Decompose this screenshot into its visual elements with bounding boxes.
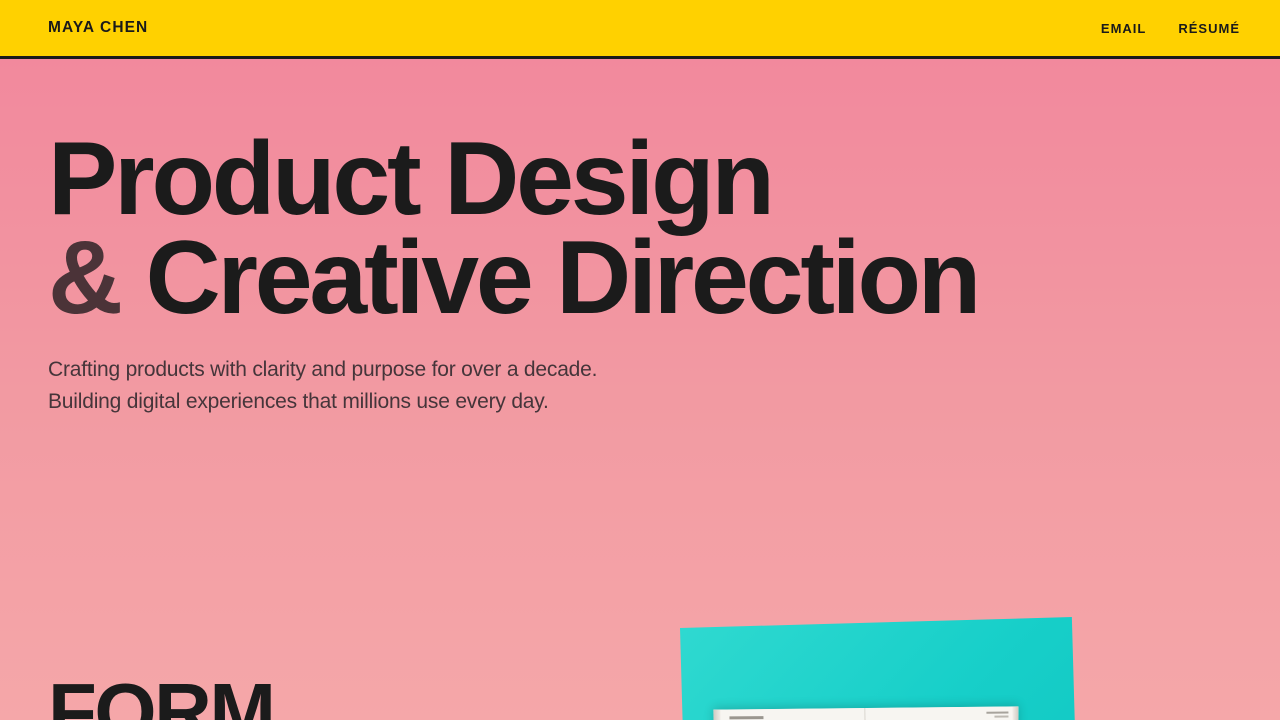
magazine-showcase: The ZIN	[672, 614, 1092, 720]
right-page-folio-rule-2	[994, 716, 1008, 718]
hero-section: Product Design & Creative Direction Craf…	[0, 62, 1280, 720]
headline-line-2: & Creative Direction	[48, 229, 978, 328]
teal-backdrop-card	[680, 617, 1077, 720]
magazine-spine	[713, 710, 721, 720]
subhead-line-1: Crafting products with clarity and purpo…	[48, 354, 597, 386]
primary-nav: EMAIL RÉSUMÉ	[1101, 21, 1240, 36]
subhead-line-2: Building digital experiences that millio…	[48, 386, 597, 418]
page-title: Product Design & Creative Direction	[48, 130, 978, 328]
right-page-folio-rule	[986, 712, 1008, 714]
open-magazine-photo: The ZIN	[713, 706, 1019, 720]
headline-line-2-text: Creative Direction	[146, 220, 979, 336]
hero-subhead: Crafting products with clarity and purpo…	[48, 354, 597, 418]
headline-line-1: Product Design	[48, 130, 978, 229]
brand-logo[interactable]: MAYA CHEN	[48, 19, 148, 37]
magazine-left-page: The ZIN	[713, 708, 866, 720]
magazine-right-page	[865, 706, 1019, 720]
nav-link-email[interactable]: EMAIL	[1101, 21, 1146, 36]
site-header: MAYA CHEN EMAIL RÉSUMÉ	[0, 0, 1280, 59]
section-heading-form: FORM	[48, 672, 274, 720]
nav-link-resume[interactable]: RÉSUMÉ	[1178, 21, 1240, 36]
ampersand-glyph: &	[48, 220, 120, 336]
left-page-kicker-rule	[729, 716, 763, 719]
